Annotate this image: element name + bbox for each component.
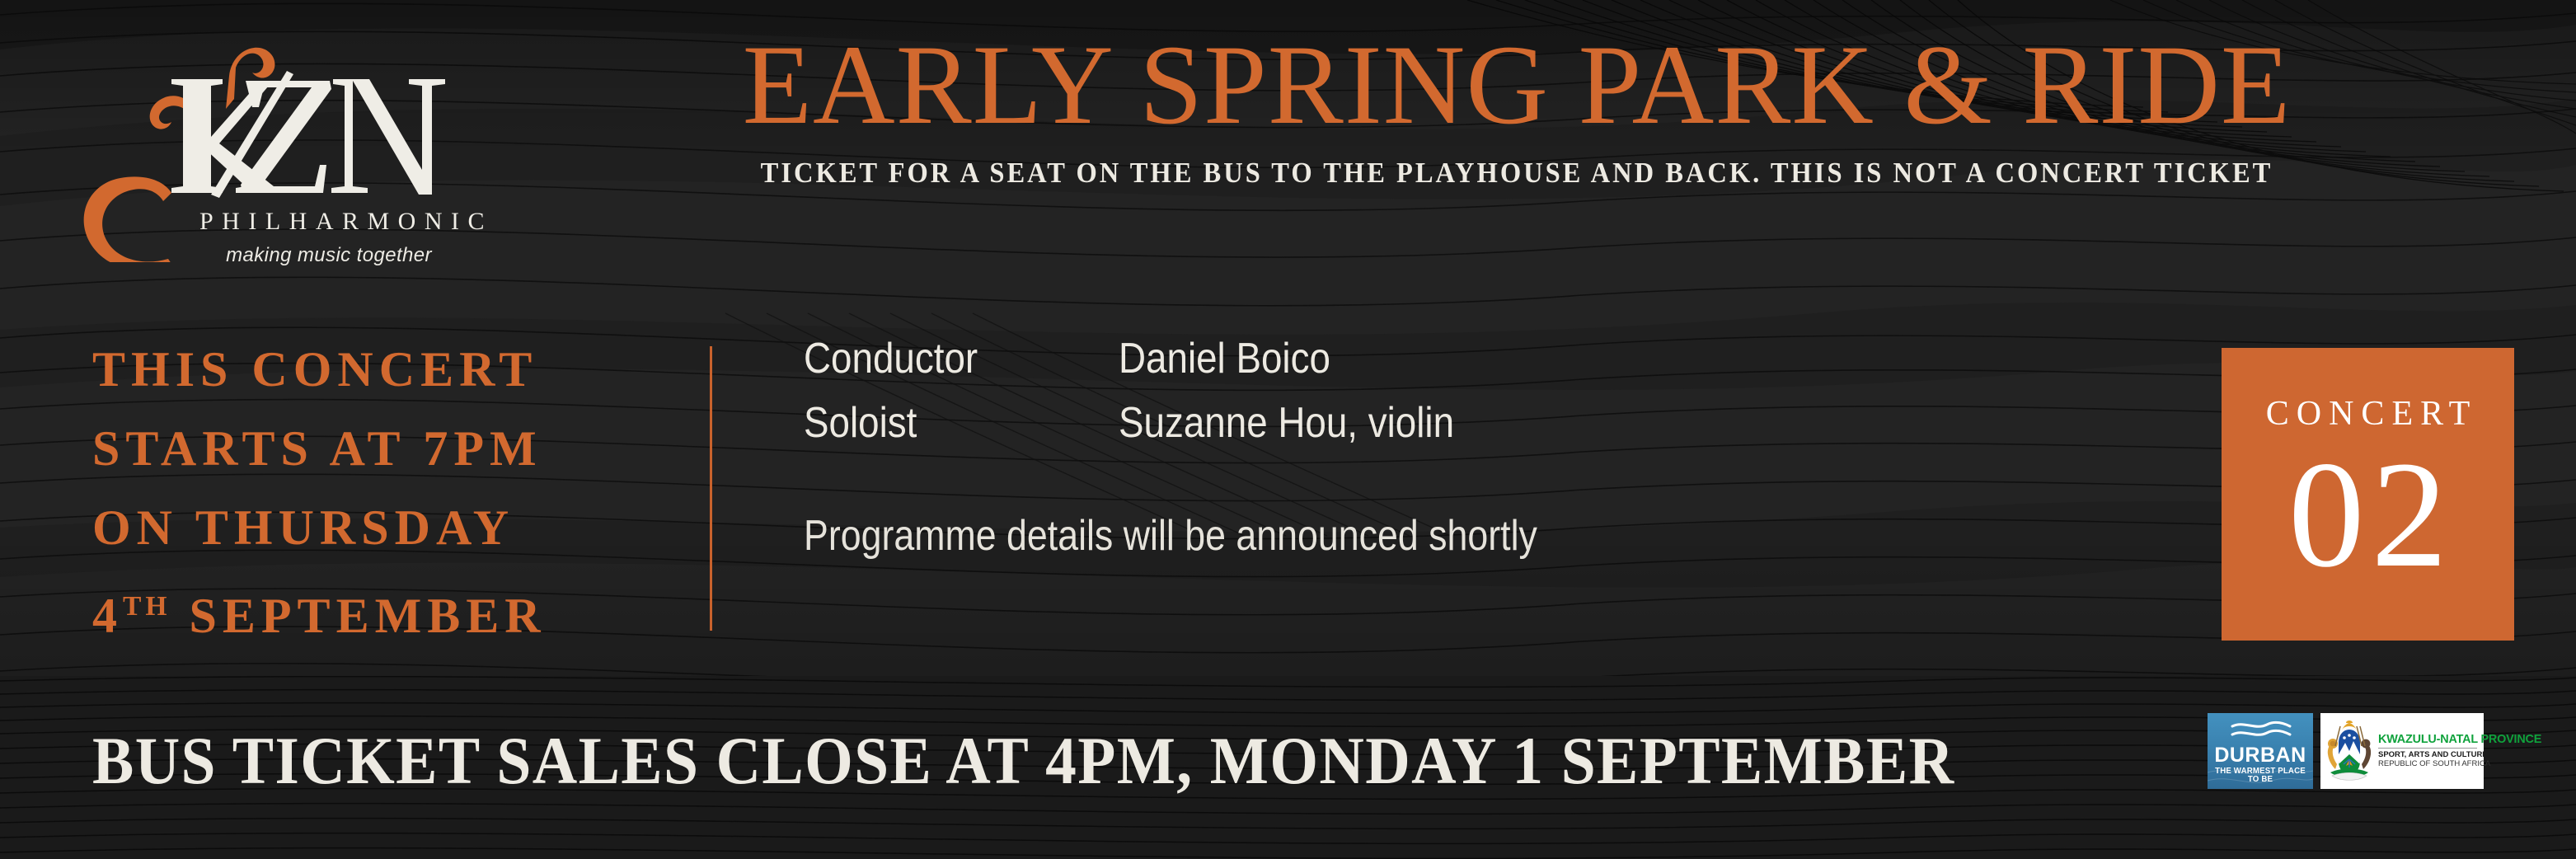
date-line-3: ON THURSDAY — [92, 488, 686, 567]
date-ordinal: TH — [123, 591, 171, 622]
credit-row: Soloist Suzanne Hou, violin — [804, 398, 2139, 462]
banner-title: EARLY SPRING PARK & RIDE — [503, 28, 2531, 142]
concert-banner: PHILHARMONIC making music together EARLY… — [0, 0, 2576, 859]
conductor-name: Daniel Boico — [1119, 334, 1330, 383]
date-line-2: STARTS AT 7PM — [92, 409, 686, 488]
kzn-text-lockup: KWAZULU-NATAL PROVINCE SPORT, ARTS AND C… — [2378, 733, 2548, 769]
footer-bar: BUS TICKET SALES CLOSE AT 4PM, MONDAY 1 … — [0, 676, 2576, 859]
kzn-department-line: SPORT, ARTS AND CULTURE — [2378, 750, 2548, 759]
banner-header: PHILHARMONIC making music together EARLY… — [0, 0, 2576, 272]
conductor-label: Conductor — [804, 334, 1081, 383]
kzn-coat-of-arms-icon — [2324, 718, 2375, 784]
programme-note: Programme details will be announced shor… — [804, 511, 1537, 561]
durban-logo: DURBAN THE WARMEST PLACE TO BE — [2208, 713, 2313, 789]
sponsor-logos: DURBAN THE WARMEST PLACE TO BE — [2208, 713, 2484, 789]
kzn-country-line: REPUBLIC OF SOUTH AFRICA — [2378, 759, 2548, 768]
concert-number-badge: CONCERT 02 — [2222, 348, 2514, 641]
soloist-name: Suzanne Hou, violin — [1119, 398, 1454, 448]
date-line-4: 4TH SEPTEMBER — [92, 567, 686, 655]
vertical-divider — [710, 346, 712, 631]
title-block: EARLY SPRING PARK & RIDE TICKET FOR A SE… — [503, 28, 2531, 190]
durban-name: DURBAN — [2208, 745, 2313, 766]
soloist-label: Soloist — [804, 398, 1081, 448]
credits-block: Conductor Daniel Boico Soloist Suzanne H… — [804, 334, 2139, 462]
date-month: SEPTEMBER — [190, 589, 547, 643]
durban-tagline: THE WARMEST PLACE TO BE — [2209, 767, 2311, 784]
kzn-rule — [2378, 748, 2477, 749]
date-day: 4 — [92, 589, 123, 643]
date-block: THIS CONCERT STARTS AT 7PM ON THURSDAY 4… — [92, 330, 686, 655]
badge-label: CONCERT — [2222, 394, 2514, 434]
banner-subtitle: TICKET FOR A SEAT ON THE BUS TO THE PLAY… — [574, 157, 2460, 190]
footer-notice: BUS TICKET SALES CLOSE AT 4PM, MONDAY 1 … — [92, 722, 1954, 800]
logo-tagline: making music together — [191, 244, 455, 267]
logo-wordmark: PHILHARMONIC — [191, 208, 455, 236]
kzn-philharmonic-logo: PHILHARMONIC making music together — [66, 23, 453, 262]
credit-row: Conductor Daniel Boico — [804, 334, 2139, 398]
kzn-province-line: KWAZULU-NATAL PROVINCE — [2378, 733, 2541, 746]
kzn-province-logo: KWAZULU-NATAL PROVINCE SPORT, ARTS AND C… — [2320, 713, 2484, 789]
badge-number: 02 — [2222, 439, 2514, 591]
date-line-1: THIS CONCERT — [92, 330, 686, 409]
